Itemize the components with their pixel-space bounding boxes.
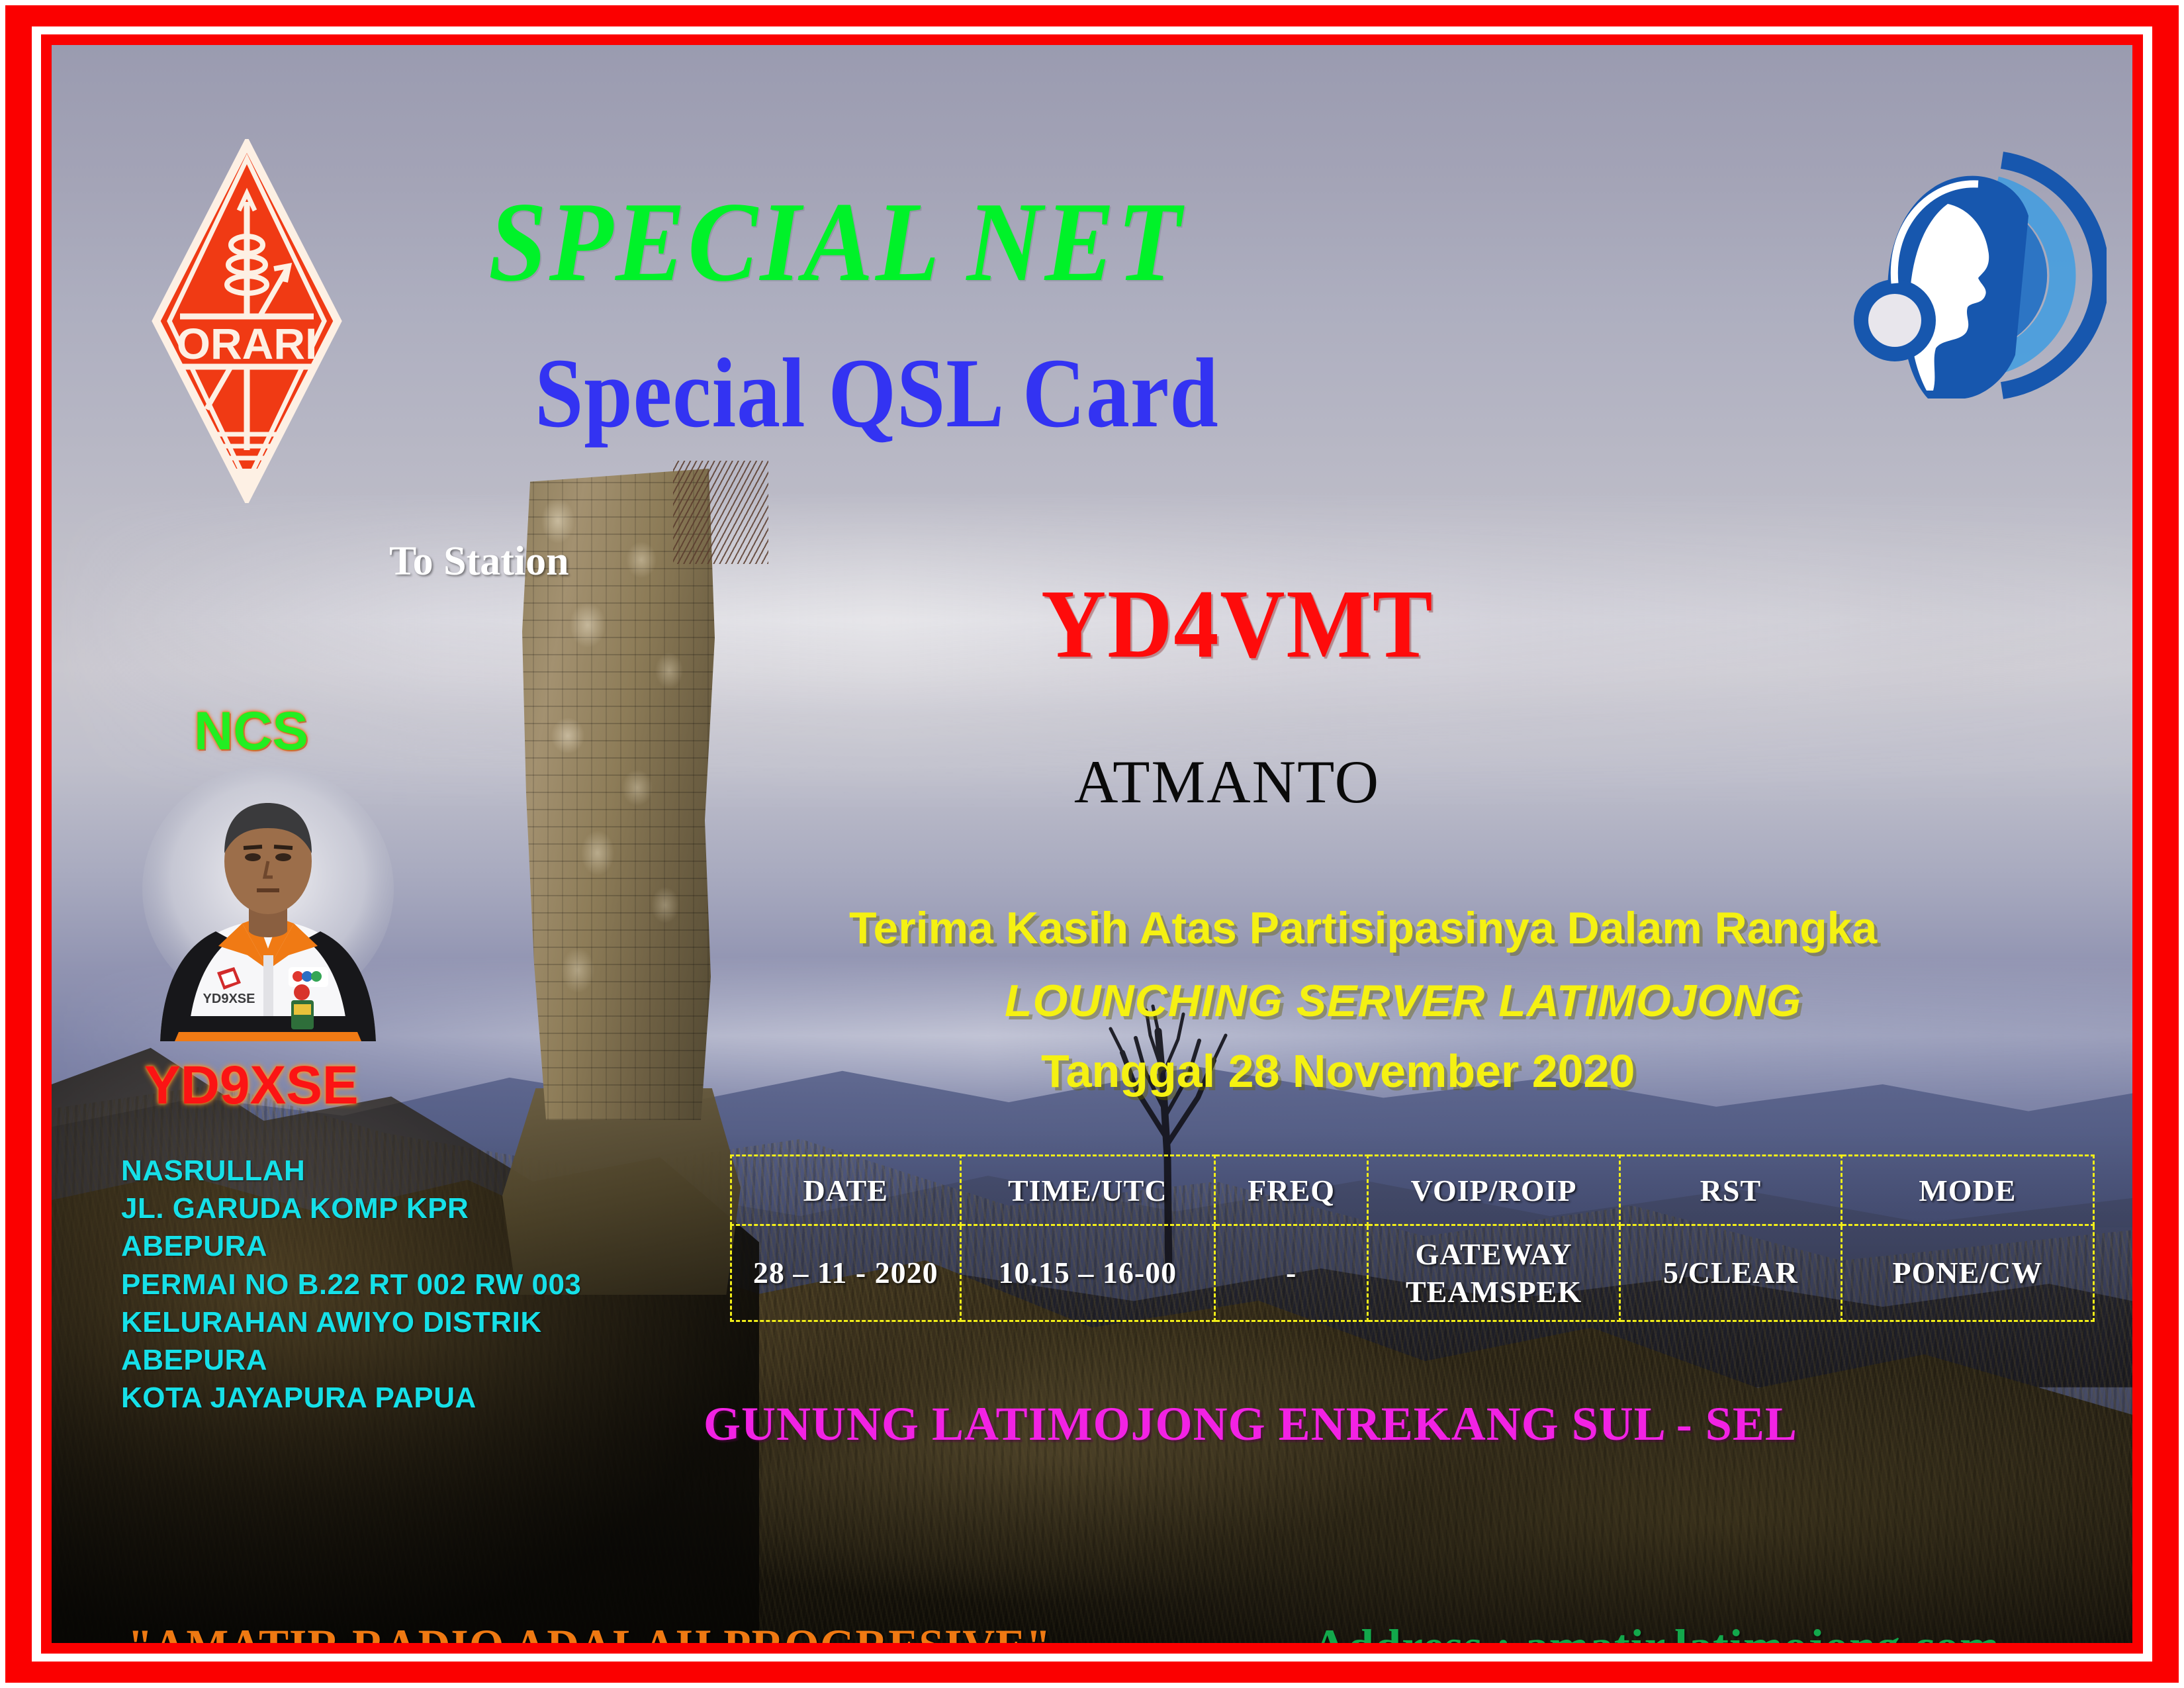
to-station-label: To Station (389, 538, 569, 585)
cairn-top-grass-tuft (673, 461, 768, 564)
address-line: ABEPURA (121, 1227, 581, 1265)
orari-wordmark: ORARI (177, 319, 318, 368)
column-header-date: DATE (731, 1156, 961, 1225)
cell-voip-roip-line2: TEAMSPEK (1369, 1273, 1618, 1311)
cell-mode: PONE/CW (1841, 1225, 2093, 1321)
cell-voip-roip: GATEWAY TEAMSPEK (1368, 1225, 1620, 1321)
recipient-operator-name: ATMANTO (1074, 747, 1380, 817)
ncs-label: NCS (194, 700, 308, 763)
address-line: NASRULLAH (121, 1152, 581, 1190)
background-photograph: ORARI SPECIAL NET S (52, 45, 2132, 1643)
thanks-line-1: Terima Kasih Atas Partisipasinya Dalam R… (849, 902, 1877, 954)
address-line: PERMAI NO B.22 RT 002 RW 003 (121, 1266, 581, 1303)
thanks-line-2: LOUNCHING SERVER LATIMOJONG (1005, 975, 1801, 1027)
column-header-time-utc: TIME/UTC (960, 1156, 1214, 1225)
subtitle-special-qsl-card: Special QSL Card (535, 336, 1219, 450)
stone-cairn-monument (518, 469, 717, 1263)
page-title-special-net: SPECIAL NET (488, 177, 1183, 308)
address-line: ABEPURA (121, 1341, 581, 1379)
location-line: GUNUNG LATIMOJONG ENREKANG SUL - SEL (704, 1397, 1797, 1452)
website-address-text: Address : amatir.latimojong.com (1312, 1619, 2000, 1643)
column-header-mode: MODE (1841, 1156, 2093, 1225)
column-header-freq: FREQ (1215, 1156, 1368, 1225)
cell-time-utc: 10.15 – 16-00 (960, 1225, 1214, 1321)
cell-voip-roip-line1: GATEWAY (1369, 1235, 1618, 1274)
uniform-callsign-patch: YD9XSE (203, 992, 255, 1006)
recipient-callsign: YD4VMT (1041, 568, 1433, 680)
ncs-callsign: YD9XSE (144, 1055, 359, 1117)
thanks-line-3: Tanggal 28 November 2020 (1041, 1045, 1635, 1098)
cell-freq: - (1215, 1225, 1368, 1321)
net-logo (1848, 143, 2107, 408)
ncs-operator-portrait: YD9XSE (136, 757, 400, 1041)
table-row: 28 – 11 - 2020 10.15 – 16-00 - GATEWAY T… (731, 1225, 2094, 1321)
address-line: KELURAHAN AWIYO DISTRIK (121, 1303, 581, 1341)
table-header-row: DATE TIME/UTC FREQ VOIP/ROIP RST MODE (731, 1156, 2094, 1225)
cell-date: 28 – 11 - 2020 (731, 1225, 961, 1321)
motto-text: "AMATIR RADIO ADALAH PROGRESIVE" (128, 1619, 1052, 1643)
orari-logo: ORARI (151, 139, 343, 503)
qso-details-table: DATE TIME/UTC FREQ VOIP/ROIP RST MODE 28… (730, 1154, 2095, 1322)
qsl-card: ORARI SPECIAL NET S (0, 0, 2184, 1688)
address-line: KOTA JAYAPURA PAPUA (121, 1379, 581, 1417)
column-header-rst: RST (1619, 1156, 1841, 1225)
cell-rst: 5/CLEAR (1619, 1225, 1841, 1321)
address-line: JL. GARUDA KOMP KPR (121, 1190, 581, 1227)
mailing-address-block: NASRULLAH JL. GARUDA KOMP KPR ABEPURA PE… (121, 1152, 581, 1417)
column-header-voip-roip: VOIP/ROIP (1368, 1156, 1620, 1225)
